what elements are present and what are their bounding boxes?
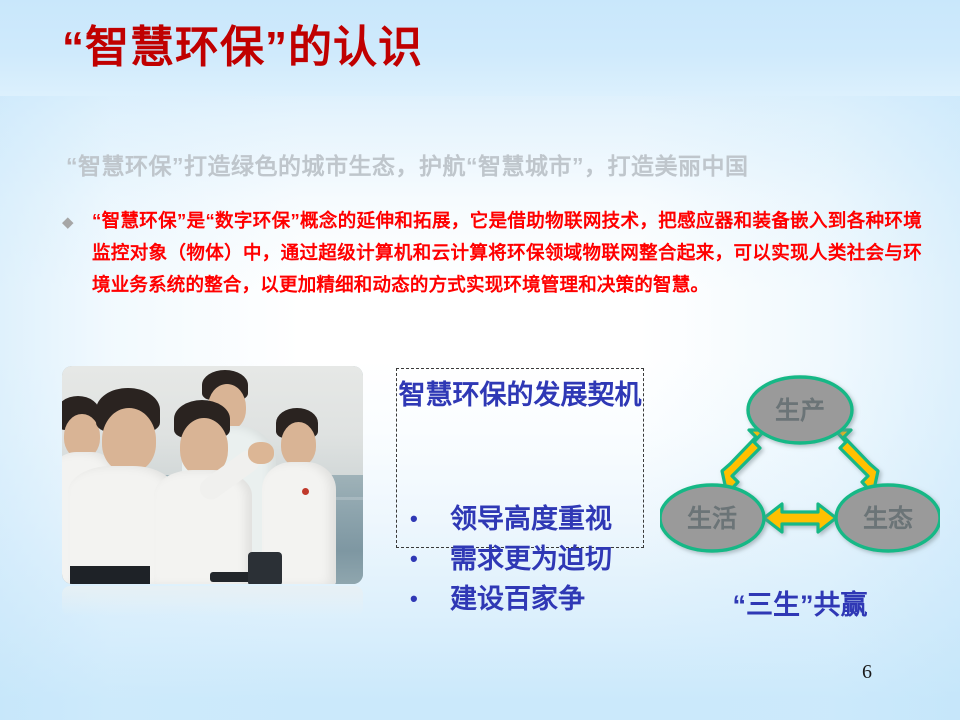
- body-paragraph-text: “智慧环保”是“数字环保”概念的延伸和拓展，它是借助物联网技术，把感应器和装备嵌…: [92, 205, 922, 301]
- diagram-node-ecology-label: 生态: [863, 505, 913, 533]
- page-number: 6: [862, 661, 872, 684]
- slide-canvas: “智慧环保”的认识 “智慧环保”打造绿色的城市生态，护航“智慧城市”，打造美丽中…: [0, 0, 960, 720]
- photo-badge: [302, 488, 309, 495]
- diagram-caption: “三生”共赢: [660, 583, 940, 622]
- photo-person-head: [281, 422, 316, 466]
- officials-photo: [62, 366, 363, 584]
- list-item-label: 建设百家争: [450, 584, 585, 614]
- diamond-bullet-icon: ◆: [62, 205, 92, 239]
- textbox-heading: 智慧环保的发展契机: [398, 376, 642, 414]
- diagram-node-living-label: 生活: [687, 505, 737, 533]
- photo-person-head: [102, 408, 156, 472]
- three-lives-diagram: 生产 生活 生态: [660, 370, 940, 570]
- bullet-dot-icon: •: [410, 500, 418, 538]
- opportunity-list: • 领导高度重视 • 需求更为迫切 • 建设百家争: [398, 500, 650, 620]
- diagram-node-production-label: 生产: [775, 397, 825, 425]
- arrow-production-living: [722, 430, 765, 494]
- slide-title: “智慧环保”的认识: [62, 24, 423, 72]
- list-item-label: 领导高度重视: [450, 504, 612, 534]
- body-paragraph-block: ◆ “智慧环保”是“数字环保”概念的延伸和拓展，它是借助物联网技术，把感应器和装…: [62, 205, 922, 301]
- bullet-dot-icon: •: [410, 580, 418, 618]
- list-item: • 需求更为迫切: [398, 540, 650, 578]
- list-item: • 建设百家争: [398, 580, 650, 618]
- photo-foreground-dark: [248, 552, 282, 584]
- photo-pointing-hand: [248, 442, 274, 464]
- photo-reflection: [62, 586, 363, 616]
- list-item: • 领导高度重视: [398, 500, 650, 538]
- arrow-production-ecology: [835, 430, 878, 494]
- list-item-label: 需求更为迫切: [450, 544, 612, 574]
- bullet-dot-icon: •: [410, 540, 418, 578]
- slide-subtitle: “智慧环保”打造绿色的城市生态，护航“智慧城市”，打造美丽中国: [66, 147, 749, 181]
- photo-foreground-dark: [70, 566, 150, 584]
- arrow-living-ecology: [764, 504, 836, 532]
